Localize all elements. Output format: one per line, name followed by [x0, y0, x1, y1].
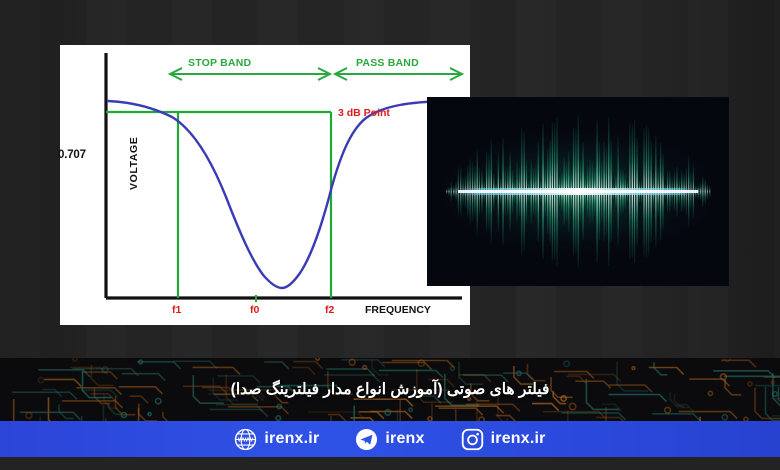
filter-response-chart-card: 0.707 VOLTAGE STOP BAND PASS BAND 3 dB P…: [60, 45, 470, 325]
filter-response-plot: [60, 45, 470, 325]
y-tick-label-0707: 0.707: [58, 149, 86, 161]
caption-strip: فیلتر های صوتی (آموزش انواع مدار فیلترین…: [0, 358, 780, 421]
pass-band-arrow: [335, 68, 462, 80]
audio-waveform-image: [428, 98, 728, 285]
social-label-instagram: irenx.ir: [491, 430, 546, 448]
x-axis-label: FREQUENCY: [365, 304, 431, 316]
svg-text:WWW: WWW: [238, 437, 254, 443]
social-label-website: irenx.ir: [264, 430, 319, 448]
social-label-telegram: irenx: [385, 430, 424, 448]
bottom-edge: [0, 457, 780, 470]
pass-band-label: PASS BAND: [356, 57, 419, 69]
three-db-point-label: 3 dB Point: [338, 107, 390, 119]
telegram-icon: [355, 428, 378, 451]
audio-waveform-graphic: [428, 98, 728, 285]
x-tick-label-f2: f2: [325, 304, 334, 316]
stop-band-label: STOP BAND: [188, 57, 251, 69]
video-title-caption: فیلتر های صوتی (آموزش انواع مدار فیلترین…: [0, 358, 780, 421]
stop-band-arrow: [170, 68, 330, 80]
social-link-website[interactable]: WWW irenx.ir: [234, 428, 319, 451]
social-links-bar: WWW irenx.ir irenx irenx.ir: [0, 421, 780, 457]
globe-www-icon: WWW: [234, 428, 257, 451]
social-link-instagram[interactable]: irenx.ir: [461, 428, 546, 451]
x-tick-label-f1: f1: [172, 304, 181, 316]
y-axis-label: VOLTAGE: [128, 137, 140, 190]
x-tick-label-f0: f0: [250, 304, 259, 316]
social-link-telegram[interactable]: irenx: [355, 428, 424, 451]
response-curve: [108, 101, 444, 288]
instagram-icon: [461, 428, 484, 451]
